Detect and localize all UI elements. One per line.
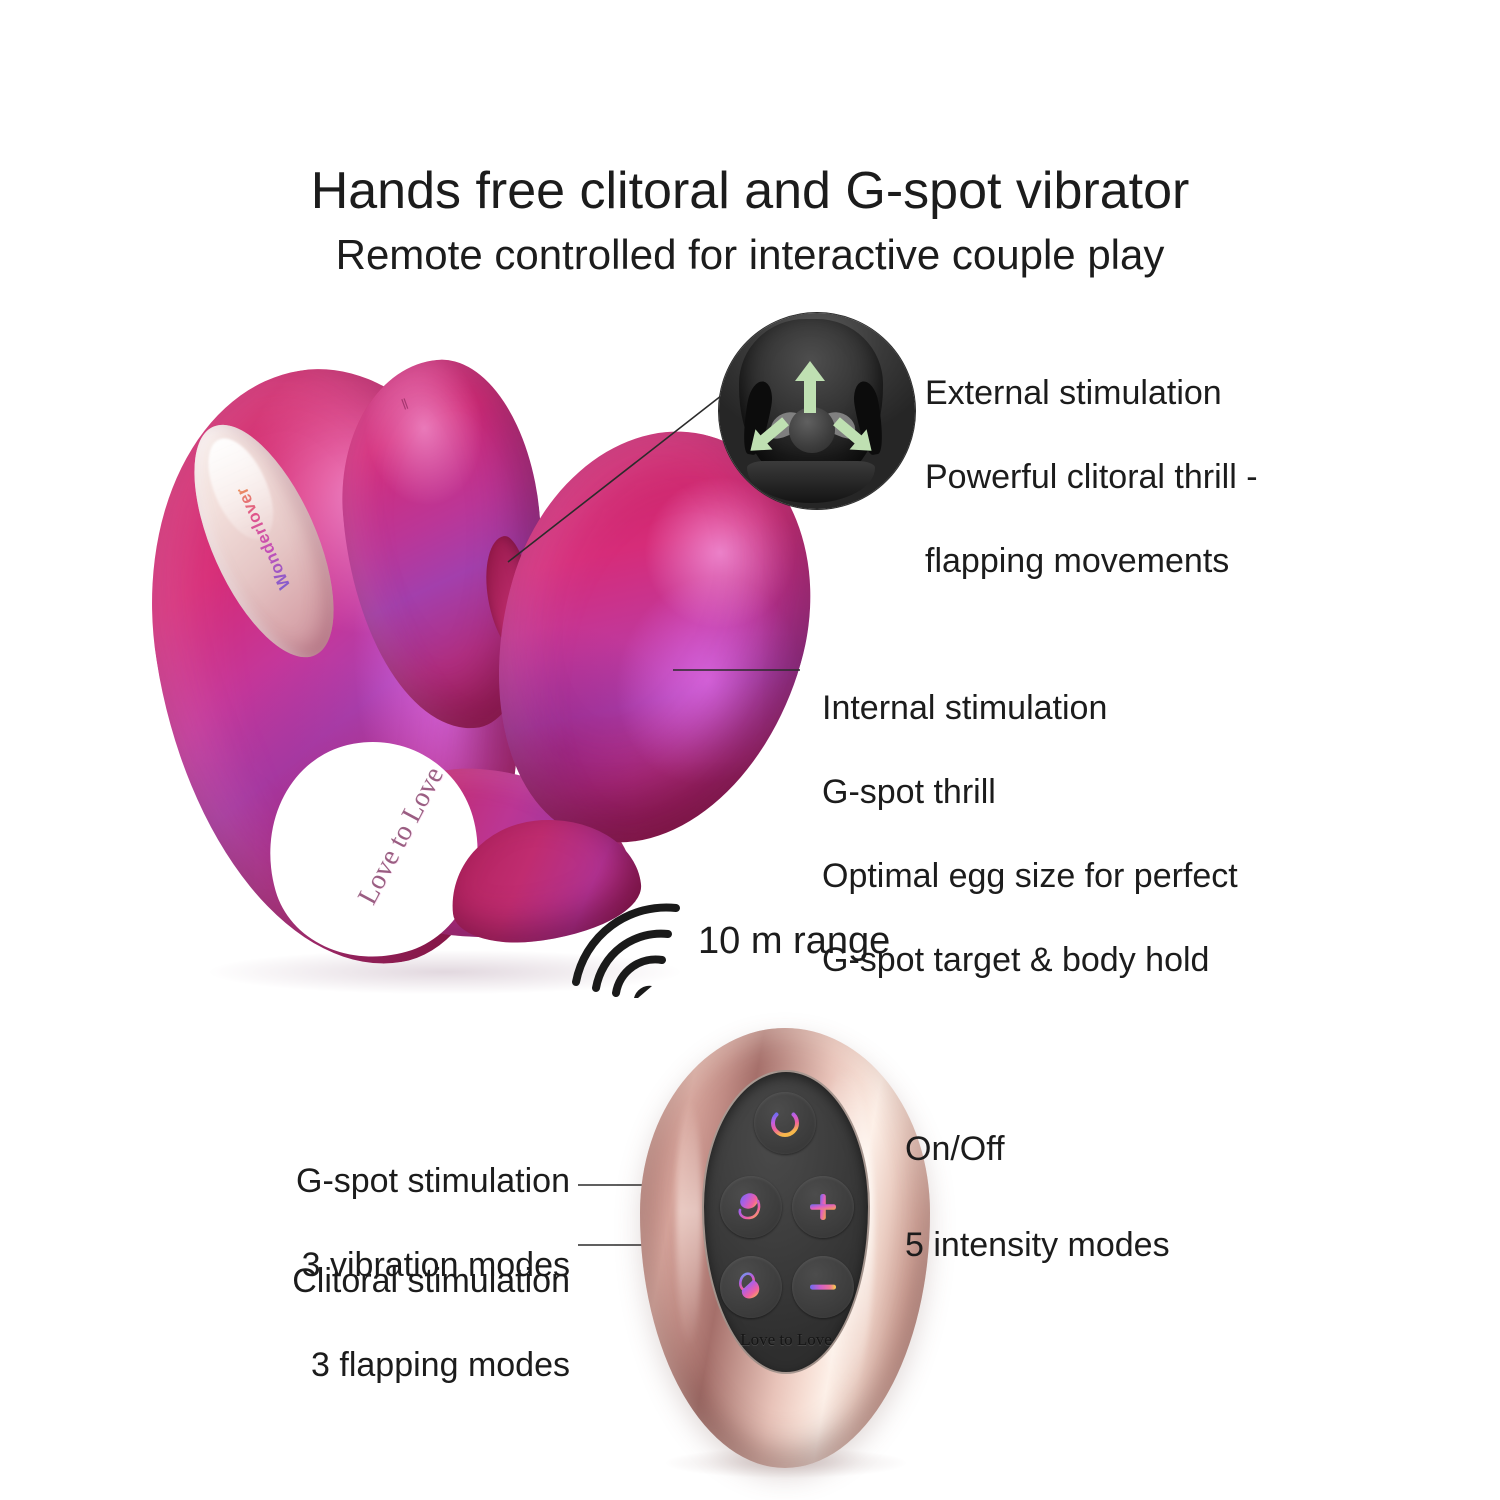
callout-clitoral-line2: 3 flapping modes <box>180 1344 570 1386</box>
callout-internal-line2: G-spot thrill <box>822 771 1342 813</box>
range-label: 10 m range <box>698 920 890 963</box>
arrow-up-icon <box>793 361 827 413</box>
minus-icon <box>806 1270 840 1304</box>
remote-control: Love to Love <box>640 1028 930 1468</box>
detail-base <box>747 461 875 503</box>
plus-icon <box>806 1190 840 1224</box>
infographic-page: Hands free clitoral and G-spot vibrator … <box>0 0 1500 1500</box>
callout-internal-stimulation: Internal stimulation G-spot thrill Optim… <box>822 645 1342 1023</box>
gspot-mode-button[interactable] <box>720 1176 782 1238</box>
detail-body <box>718 312 916 510</box>
callout-external-line1: External stimulation <box>925 372 1345 414</box>
callout-external-stimulation: External stimulation Powerful clitoral t… <box>925 330 1345 624</box>
callout-gspot-line1: G-spot stimulation <box>180 1160 570 1202</box>
callout-intensity-label: 5 intensity modes <box>905 1224 1170 1266</box>
callout-onoff-label: On/Off <box>905 1128 1005 1170</box>
remote-brand-text: Love to Love <box>704 1330 868 1350</box>
callout-internal-line3: Optimal egg size for perfect <box>822 855 1342 897</box>
clitoral-toy-icon <box>733 1269 769 1305</box>
product-image: Wonderlover ‖ Love to Love <box>150 350 730 990</box>
callout-internal-line1: Internal stimulation <box>822 687 1342 729</box>
increase-intensity-button[interactable] <box>792 1176 854 1238</box>
callout-internal-line4: G-spot target & body hold <box>822 939 1342 981</box>
external-stimulation-detail-circle <box>718 312 916 510</box>
page-title: Hands free clitoral and G-spot vibrator <box>0 160 1500 222</box>
page-subtitle: Remote controlled for interactive couple… <box>0 228 1500 282</box>
callout-external-line2: Powerful clitoral thrill - <box>925 456 1345 498</box>
clitoral-mode-button[interactable] <box>720 1256 782 1318</box>
callout-intensity: 5 intensity modes <box>905 1182 1170 1308</box>
power-button[interactable] <box>754 1092 816 1154</box>
decrease-intensity-button[interactable] <box>792 1256 854 1318</box>
power-icon <box>768 1106 802 1140</box>
remote-highlight-left <box>676 1098 702 1348</box>
wifi-signal-icon <box>568 898 688 998</box>
callout-clitoral: Clitoral stimulation 3 flapping modes <box>180 1218 570 1428</box>
gspot-toy-icon <box>733 1189 769 1225</box>
callout-external-line3: flapping movements <box>925 540 1345 582</box>
callout-clitoral-line1: Clitoral stimulation <box>180 1260 570 1302</box>
